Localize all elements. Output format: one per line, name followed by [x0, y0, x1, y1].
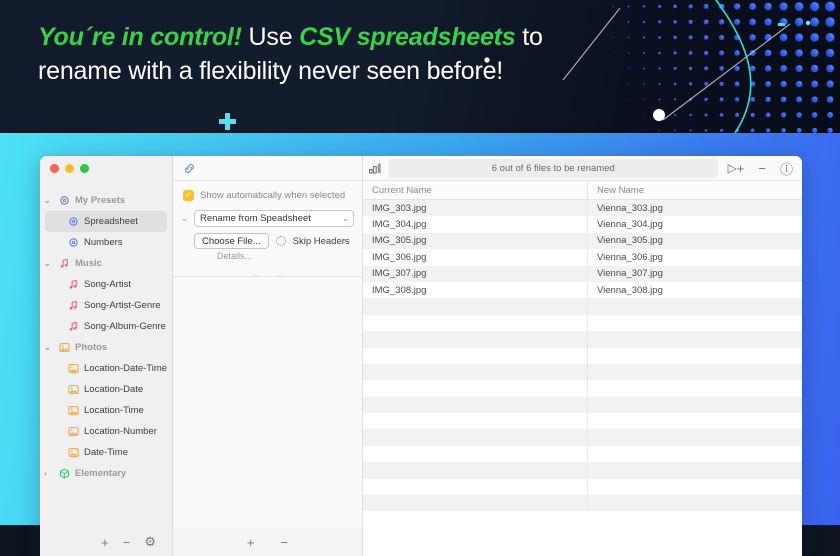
add-preset-button[interactable]: + — [101, 535, 109, 550]
cell-current-name — [363, 495, 588, 511]
column-header-new-name[interactable]: New Name — [588, 181, 802, 199]
sidebar-item-label: Numbers — [84, 237, 123, 248]
rules-panel: ✓ Show automatically when selected ⌄ Ren… — [173, 156, 363, 556]
column-header-current-name[interactable]: Current Name — [363, 181, 588, 199]
chevron-down-icon: ⌄ — [342, 214, 349, 223]
sidebar-group-my-presets[interactable]: ⌄My Presets — [40, 190, 172, 211]
cell-new-name — [588, 429, 802, 445]
cell-current-name — [363, 364, 588, 380]
sidebar-footer: + − ⚙ — [40, 528, 172, 556]
hero-banner: You´re in control! Use CSV spreadsheets … — [0, 0, 840, 133]
bar-chart-icon[interactable] — [369, 162, 383, 174]
cell-current-name — [363, 446, 588, 462]
cell-new-name: Vienna_308.jpg — [588, 282, 802, 298]
panel-divider — [173, 268, 362, 277]
photo-icon — [59, 342, 70, 353]
hero-plain-2: to — [516, 23, 543, 51]
sidebar-item-label: Location-Number — [84, 426, 157, 437]
table-row-empty[interactable] — [363, 462, 802, 478]
add-files-button[interactable]: + — [737, 161, 745, 176]
rule-row: ⌄ Rename from Speadsheet ⌄ — [173, 205, 362, 227]
disclosure-triangle-icon[interactable]: › — [44, 470, 52, 478]
cell-current-name — [363, 397, 588, 413]
sidebar-item-label: Spreadsheet — [84, 216, 138, 227]
table-row-empty[interactable] — [363, 429, 802, 445]
rule-type-value: Rename from Speadsheet — [200, 213, 311, 224]
main-toolbar: 6 out of 6 files to be renamed ▷ + − ⓘ — [363, 156, 802, 181]
sidebar-group-label: Photos — [75, 342, 107, 353]
cell-current-name — [363, 380, 588, 396]
sidebar-item-location-date[interactable]: Location-Date — [40, 379, 172, 400]
cell-current-name — [363, 298, 588, 314]
sidebar-group-photos[interactable]: ⌄Photos — [40, 337, 172, 358]
photo-icon — [68, 405, 79, 416]
sidebar-group-music[interactable]: ⌄Music — [40, 253, 172, 274]
cell-new-name — [588, 380, 802, 396]
cell-new-name — [588, 462, 802, 478]
skip-headers-label: Skip Headers — [293, 236, 350, 247]
add-rule-button[interactable]: + — [247, 535, 255, 550]
gear-icon[interactable]: ⚙ — [144, 534, 156, 550]
table-row-empty[interactable] — [363, 364, 802, 380]
sidebar-item-date-time[interactable]: Date-Time — [40, 442, 172, 463]
table-row-empty[interactable] — [363, 331, 802, 347]
sidebar-item-song-artist[interactable]: Song-Artist — [40, 274, 172, 295]
photo-icon — [68, 426, 79, 437]
sidebar-item-label: Location-Date — [84, 384, 143, 395]
close-button[interactable] — [50, 164, 59, 173]
hero-emphasis-2: CSV spreadsheets — [299, 23, 515, 51]
table-row-empty[interactable] — [363, 298, 802, 314]
cell-current-name: IMG_308.jpg — [363, 282, 588, 298]
sidebar-group-label: Elementary — [75, 468, 126, 479]
details-link[interactable]: Details... — [173, 249, 362, 261]
page-title: You´re in control! Use CSV spreadsheets … — [38, 20, 658, 88]
status-badge: 6 out of 6 files to be renamed — [389, 159, 718, 178]
cell-current-name — [363, 413, 588, 429]
cell-current-name — [363, 479, 588, 495]
photo-icon — [68, 384, 79, 395]
cell-current-name — [363, 348, 588, 364]
show-automatically-checkbox[interactable]: ✓ — [183, 190, 194, 201]
hero-plain-1: Use — [242, 23, 299, 51]
preset-tree: ⌄My PresetsSpreadsheetNumbers⌄MusicSong-… — [40, 181, 172, 528]
music-note-icon — [68, 300, 79, 311]
sidebar-item-label: Song-Album-Genre — [84, 321, 166, 332]
table-row[interactable]: IMG_308.jpgVienna_308.jpg — [363, 282, 802, 298]
remove-preset-button[interactable]: − — [123, 535, 131, 550]
rule-type-select[interactable]: Rename from Speadsheet ⌄ — [194, 210, 354, 227]
table-row-empty[interactable] — [363, 315, 802, 331]
table-row-empty[interactable] — [363, 479, 802, 495]
cell-current-name — [363, 429, 588, 445]
cell-new-name — [588, 315, 802, 331]
sidebar-item-numbers[interactable]: Numbers — [40, 232, 172, 253]
cell-current-name: IMG_307.jpg — [363, 266, 588, 282]
photo-icon — [68, 363, 79, 374]
rules-footer: + − — [173, 528, 362, 556]
sidebar-item-label: Date-Time — [84, 447, 128, 458]
chevron-down-icon[interactable]: ⌄ — [181, 214, 190, 223]
cell-new-name: Vienna_305.jpg — [588, 233, 802, 249]
window-controls — [40, 156, 172, 181]
minimize-button[interactable] — [65, 164, 74, 173]
sidebar-group-elementary[interactable]: ›Elementary — [40, 463, 172, 484]
file-list-panel: 6 out of 6 files to be renamed ▷ + − ⓘ C… — [363, 156, 802, 556]
sidebar-group-label: My Presets — [75, 195, 125, 206]
sidebar: ⌄My PresetsSpreadsheetNumbers⌄MusicSong-… — [40, 156, 173, 556]
file-chooser-row: Choose File... Skip Headers — [173, 227, 362, 249]
table-row[interactable]: IMG_305.jpgVienna_305.jpg — [363, 233, 802, 249]
sidebar-item-song-artist-genre[interactable]: Song-Artist-Genre — [40, 295, 172, 316]
sidebar-item-song-album-genre[interactable]: Song-Album-Genre — [40, 316, 172, 337]
disclosure-triangle-icon[interactable]: ⌄ — [44, 260, 52, 268]
table-row-empty[interactable] — [363, 380, 802, 396]
cell-new-name — [588, 495, 802, 511]
rules-empty-area — [173, 277, 362, 528]
sidebar-item-label: Location-Date-Time — [84, 363, 167, 374]
file-rows: IMG_303.jpgVienna_303.jpgIMG_304.jpgVien… — [363, 200, 802, 556]
cell-new-name: Vienna_304.jpg — [588, 216, 802, 232]
table-row[interactable]: IMG_303.jpgVienna_303.jpg — [363, 200, 802, 216]
show-automatically-label: Show automatically when selected — [200, 190, 345, 201]
table-row-empty[interactable] — [363, 397, 802, 413]
sidebar-group-label: Music — [75, 258, 102, 269]
cell-new-name — [588, 446, 802, 462]
table-row-empty[interactable] — [363, 348, 802, 364]
cell-current-name — [363, 315, 588, 331]
photo-icon — [68, 447, 79, 458]
disclosure-triangle-icon[interactable]: ⌄ — [44, 344, 52, 352]
cell-current-name: IMG_305.jpg — [363, 233, 588, 249]
remove-rule-button[interactable]: − — [281, 535, 289, 550]
run-rename-button[interactable]: ▷ — [724, 161, 737, 175]
gear-icon — [68, 216, 79, 227]
app-window: ⌄My PresetsSpreadsheetNumbers⌄MusicSong-… — [40, 156, 802, 556]
cell-new-name — [588, 479, 802, 495]
sidebar-item-location-date-time[interactable]: Location-Date-Time — [40, 358, 172, 379]
gear-icon — [68, 237, 79, 248]
cell-current-name — [363, 331, 588, 347]
sidebar-item-spreadsheet[interactable]: Spreadsheet — [45, 211, 167, 232]
info-icon[interactable]: ⓘ — [780, 159, 793, 178]
divider-notch — [250, 267, 286, 277]
cell-current-name: IMG_303.jpg — [363, 200, 588, 216]
hero-line-2: rename with a flexibility never seen bef… — [38, 57, 503, 85]
cube-icon — [59, 468, 70, 479]
sidebar-item-label: Location-Time — [84, 405, 144, 416]
cell-new-name: Vienna_306.jpg — [588, 249, 802, 265]
remove-files-button[interactable]: − — [758, 161, 766, 176]
choose-file-button[interactable]: Choose File... — [194, 233, 269, 249]
cell-current-name: IMG_306.jpg — [363, 249, 588, 265]
cell-new-name: Vienna_307.jpg — [588, 266, 802, 282]
music-note-icon — [68, 321, 79, 332]
sidebar-item-label: Song-Artist-Genre — [84, 300, 161, 311]
table-row[interactable]: IMG_307.jpgVienna_307.jpg — [363, 266, 802, 282]
sidebar-item-location-time[interactable]: Location-Time — [40, 400, 172, 421]
rules-panel-toolbar — [173, 156, 362, 181]
link-icon[interactable] — [183, 162, 196, 175]
cell-new-name — [588, 397, 802, 413]
sidebar-item-label: Song-Artist — [84, 279, 131, 290]
table-row-empty[interactable] — [363, 446, 802, 462]
cell-new-name — [588, 364, 802, 380]
plus-icon — [219, 113, 236, 130]
cell-new-name — [588, 413, 802, 429]
disclosure-triangle-icon[interactable]: ⌄ — [44, 197, 52, 205]
table-row-empty[interactable] — [363, 413, 802, 429]
skip-headers-checkbox[interactable] — [276, 236, 286, 246]
zoom-button[interactable] — [80, 164, 89, 173]
table-row-empty[interactable] — [363, 495, 802, 511]
show-automatically-row[interactable]: ✓ Show automatically when selected — [173, 185, 362, 205]
hero-emphasis-1: You´re in control! — [38, 23, 242, 51]
cell-current-name: IMG_304.jpg — [363, 216, 588, 232]
table-row[interactable]: IMG_306.jpgVienna_306.jpg — [363, 249, 802, 265]
gear-icon — [59, 195, 70, 206]
music-note-icon — [68, 279, 79, 290]
cell-new-name: Vienna_303.jpg — [588, 200, 802, 216]
column-headers: Current Name New Name — [363, 181, 802, 200]
table-row[interactable]: IMG_304.jpgVienna_304.jpg — [363, 216, 802, 232]
cell-new-name — [588, 348, 802, 364]
cell-new-name — [588, 331, 802, 347]
sidebar-item-location-number[interactable]: Location-Number — [40, 421, 172, 442]
cell-current-name — [363, 462, 588, 478]
cell-new-name — [588, 298, 802, 314]
music-note-icon — [59, 258, 70, 269]
